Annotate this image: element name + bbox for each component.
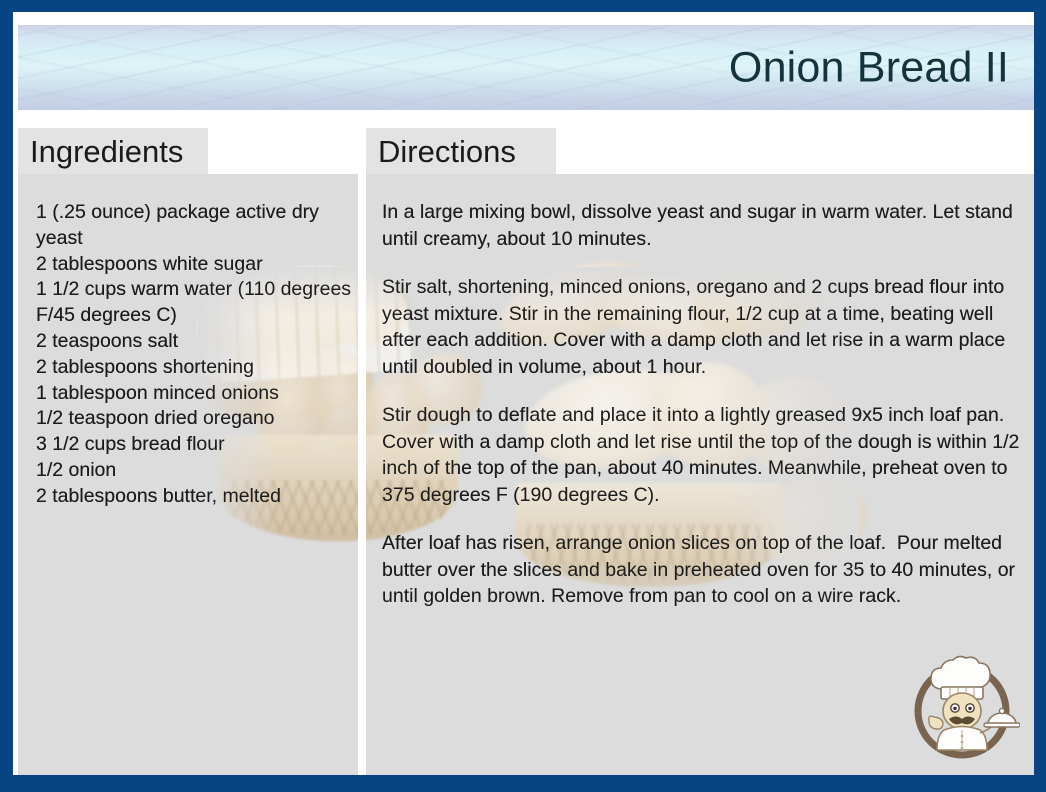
direction-paragraph: Stir salt, shortening, minced onions, or… (382, 274, 1025, 380)
directions-text-content: In a large mixing bowl, dissolve yeast a… (382, 199, 1025, 610)
ingredient-item: 2 tablespoons shortening (36, 355, 352, 381)
ingredient-item: 2 tablespoons butter, melted (36, 484, 352, 510)
ingredient-item: 2 teaspoons salt (36, 329, 352, 355)
ingredient-item: 1 1/2 cups warm water (110 degrees F/45 … (36, 277, 352, 329)
chef-logo (904, 651, 1020, 767)
ingredient-item: 1 tablespoon minced onions (36, 381, 352, 407)
ingredients-heading-box: Ingredients (18, 128, 208, 174)
recipe-card-page: Onion Bread II Ingredients Directions 1 … (0, 0, 1046, 792)
ingredients-text-layer: 1 (.25 ounce) package active dry yeast2 … (18, 174, 358, 775)
ingredient-item: 3 1/2 cups bread flour (36, 432, 352, 458)
ingredient-item: 1/2 teaspoon dried oregano (36, 406, 352, 432)
ingredients-heading: Ingredients (18, 136, 183, 167)
ingredient-item: 1/2 onion (36, 458, 352, 484)
direction-paragraph: Stir dough to deflate and place it into … (382, 402, 1025, 508)
ingredient-item: 1 (.25 ounce) package active dry yeast (36, 200, 352, 252)
ingredients-list-text: 1 (.25 ounce) package active dry yeast2 … (36, 200, 352, 510)
directions-heading: Directions (366, 136, 516, 167)
column-divider (358, 128, 366, 775)
card-canvas: Onion Bread II Ingredients Directions 1 … (13, 12, 1034, 775)
page-title: Onion Bread II (729, 43, 1009, 92)
direction-paragraph: After loaf has risen, arrange onion slic… (382, 530, 1025, 610)
header-banner: Onion Bread II (18, 25, 1034, 110)
ingredient-item: 2 tablespoons white sugar (36, 252, 352, 278)
directions-heading-box: Directions (366, 128, 556, 174)
direction-paragraph: In a large mixing bowl, dissolve yeast a… (382, 199, 1025, 252)
